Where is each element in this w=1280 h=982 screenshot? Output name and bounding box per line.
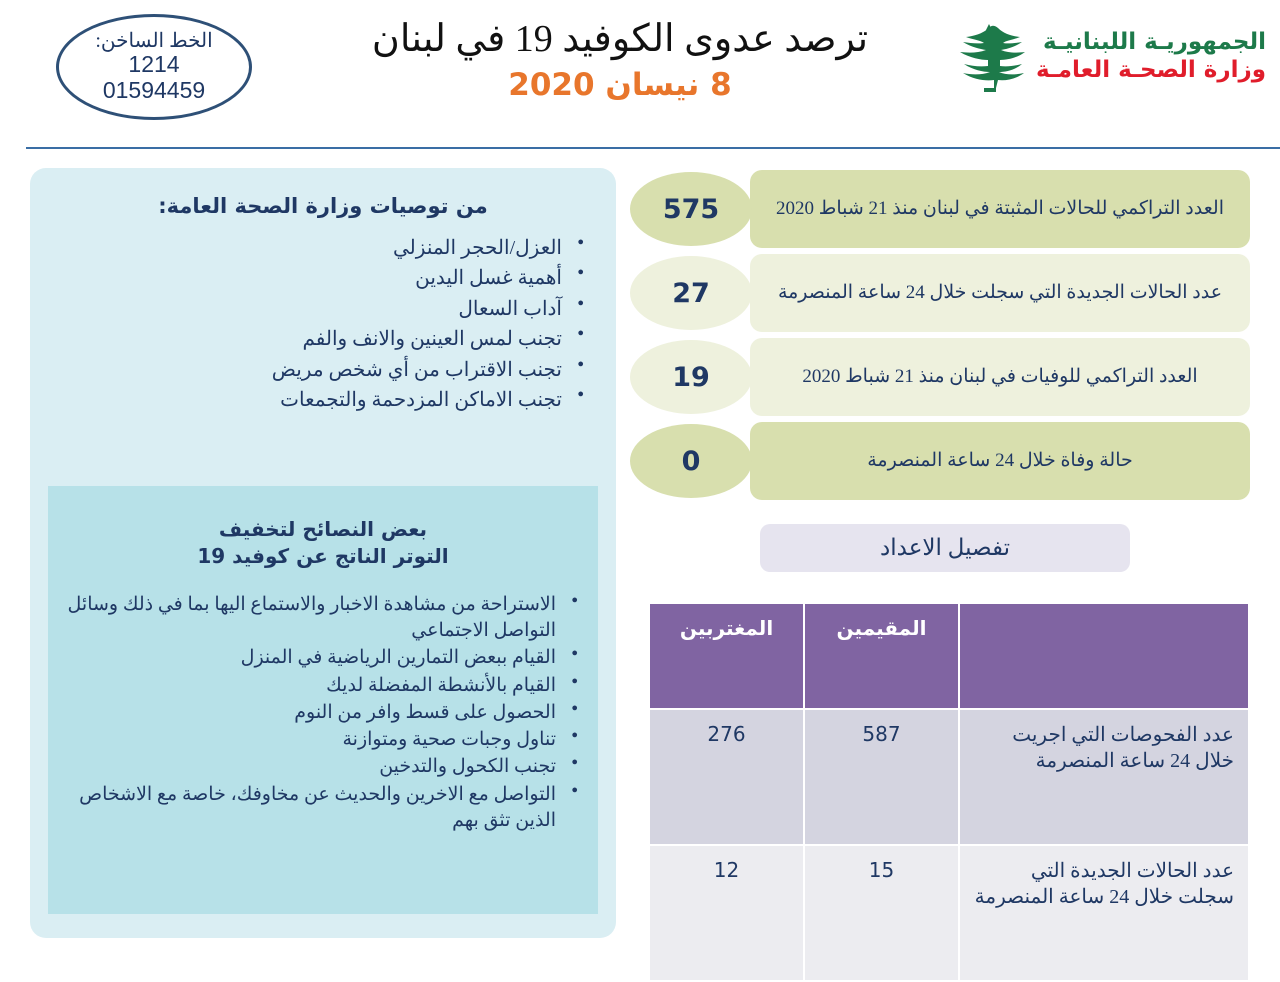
hotline-number-short: 1214 <box>128 52 179 78</box>
row-expatriates-value: 12 <box>649 845 804 981</box>
logo-ministry-label: وزارة الصحـة العامـة <box>1036 57 1266 85</box>
page-header: الخط الساخن: 1214 01594459 ترصد عدوى الك… <box>0 0 1280 148</box>
cedar-tree-icon <box>952 22 1026 92</box>
stat-card-new-cases-24h: عدد الحالات الجديدة التي سجلت خلال 24 سا… <box>630 254 1250 336</box>
column-header-residents: المقيمين <box>804 603 959 709</box>
table-row: عدد الحالات الجديدة التي سجلت خلال 24 سا… <box>649 845 1249 981</box>
list-item: القيام ببعض التمارين الرياضية في المنزل <box>60 645 580 671</box>
title-block: ترصد عدوى الكوفيد 19 في لبنان 8 نيسان 20… <box>300 18 940 103</box>
row-label: عدد الحالات الجديدة التي سجلت خلال 24 سا… <box>959 845 1249 981</box>
table-header-row: المقيمين المغتربين <box>649 603 1249 709</box>
recommendations-panel: من توصيات وزارة الصحة العامة: العزل/الحج… <box>30 168 616 938</box>
ministry-logo: الجمهوريـة اللبنانيـة وزارة الصحـة العام… <box>952 22 1266 92</box>
logo-text: الجمهوريـة اللبنانيـة وزارة الصحـة العام… <box>1036 29 1266 84</box>
stat-value-badge: 575 <box>630 172 752 246</box>
detail-breakdown-table: المقيمين المغتربين عدد الفحوصات التي اجر… <box>648 602 1250 982</box>
hotline-label: الخط الساخن: <box>95 30 212 52</box>
stat-value-badge: 0 <box>630 424 752 498</box>
hotline-number-long: 01594459 <box>103 78 205 104</box>
stat-value-badge: 19 <box>630 340 752 414</box>
stat-card-deaths-24h: حالة وفاة خلال 24 ساعة المنصرمة 0 <box>630 422 1250 504</box>
stat-card-bar: حالة وفاة خلال 24 ساعة المنصرمة <box>750 422 1250 500</box>
column-header-label <box>959 603 1249 709</box>
logo-republic-label: الجمهوريـة اللبنانيـة <box>1036 29 1266 57</box>
list-item: الاستراحة من مشاهدة الاخبار والاستماع ال… <box>60 592 580 644</box>
row-expatriates-value: 276 <box>649 709 804 845</box>
list-item: القيام بالأنشطة المفضلة لديك <box>60 673 580 699</box>
list-item: تجنب الكحول والتدخين <box>60 754 580 780</box>
detail-section-badge: تفصيل الاعداد <box>760 524 1130 572</box>
recommendations-title: من توصيات وزارة الصحة العامة: <box>64 194 582 218</box>
stat-card-bar: العدد التراكمي للحالات المثبتة في لبنان … <box>750 170 1250 248</box>
stress-tips-title-line1: بعض النصائح لتخفيف <box>72 516 574 543</box>
row-label: عدد الفحوصات التي اجريت خلال 24 ساعة الم… <box>959 709 1249 845</box>
stat-card-cumulative-cases: العدد التراكمي للحالات المثبتة في لبنان … <box>630 170 1250 252</box>
column-header-expatriates: المغتربين <box>649 603 804 709</box>
list-item: العزل/الحجر المنزلي <box>60 234 586 262</box>
list-item: أهمية غسل اليدين <box>60 264 586 292</box>
page-title: ترصد عدوى الكوفيد 19 في لبنان <box>300 18 940 61</box>
header-divider <box>26 147 1280 149</box>
stat-card-bar: العدد التراكمي للوفيات في لبنان منذ 21 ش… <box>750 338 1250 416</box>
stat-label: العدد التراكمي للحالات المثبتة في لبنان … <box>776 197 1224 222</box>
stress-tips-title: بعض النصائح لتخفيف التوتر الناتج عن كوفي… <box>72 516 574 570</box>
summary-statistics: العدد التراكمي للحالات المثبتة في لبنان … <box>630 170 1250 506</box>
list-item: تناول وجبات صحية ومتوازنة <box>60 727 580 753</box>
list-item: تجنب الاقتراب من أي شخص مريض <box>60 356 586 384</box>
stat-card-bar: عدد الحالات الجديدة التي سجلت خلال 24 سا… <box>750 254 1250 332</box>
report-date: 8 نيسان 2020 <box>300 67 940 103</box>
row-residents-value: 587 <box>804 709 959 845</box>
stat-label: عدد الحالات الجديدة التي سجلت خلال 24 سا… <box>778 281 1222 306</box>
list-item: تجنب الاماكن المزدحمة والتجمعات <box>60 386 586 414</box>
list-item: الحصول على قسط وافر من النوم <box>60 700 580 726</box>
hotline-badge: الخط الساخن: 1214 01594459 <box>56 14 252 120</box>
list-item: آداب السعال <box>60 295 586 323</box>
list-item: تجنب لمس العينين والانف والفم <box>60 325 586 353</box>
stat-card-cumulative-deaths: العدد التراكمي للوفيات في لبنان منذ 21 ش… <box>630 338 1250 420</box>
stress-tips-list: الاستراحة من مشاهدة الاخبار والاستماع ال… <box>60 592 580 834</box>
stat-label: العدد التراكمي للوفيات في لبنان منذ 21 ش… <box>802 365 1197 390</box>
row-residents-value: 15 <box>804 845 959 981</box>
stress-tips-box: بعض النصائح لتخفيف التوتر الناتج عن كوفي… <box>48 486 598 914</box>
stat-label: حالة وفاة خلال 24 ساعة المنصرمة <box>867 449 1133 474</box>
table-row: عدد الفحوصات التي اجريت خلال 24 ساعة الم… <box>649 709 1249 845</box>
list-item: التواصل مع الاخرين والحديث عن مخاوفك، خا… <box>60 782 580 834</box>
stat-value-badge: 27 <box>630 256 752 330</box>
recommendations-list: العزل/الحجر المنزلي أهمية غسل اليدين آدا… <box>60 234 586 414</box>
stress-tips-title-line2: التوتر الناتج عن كوفيد 19 <box>72 543 574 570</box>
